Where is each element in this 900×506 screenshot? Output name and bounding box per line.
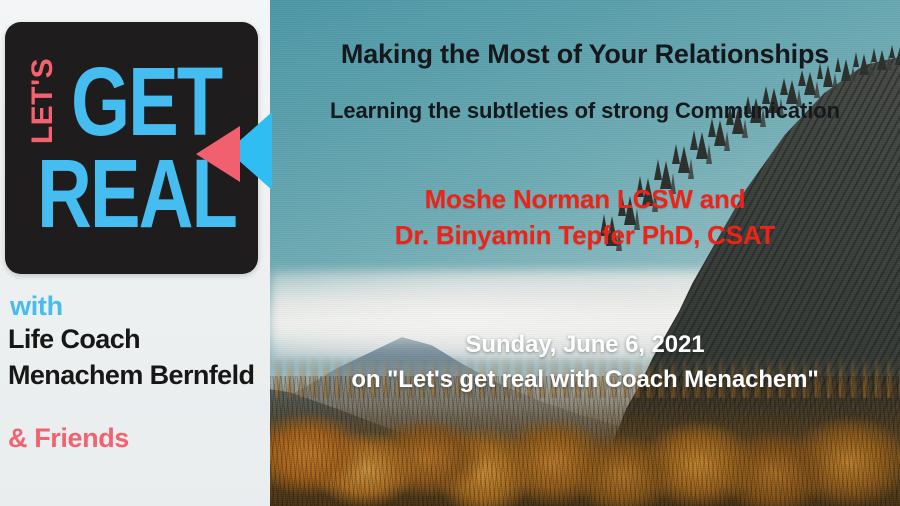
- speaker-name-1: Moshe Norman LCSW and: [276, 182, 894, 218]
- with-label: with: [10, 291, 63, 322]
- brand-panel: LET'S GET REAL with Life Coach Menachem …: [0, 0, 270, 506]
- event-date: Sunday, June 6, 2021: [272, 328, 898, 363]
- friends-label: & Friends: [8, 423, 129, 454]
- event-details: Sunday, June 6, 2021 on "Let's get real …: [272, 328, 898, 398]
- subtitle: Learning the subtleties of strong Commun…: [298, 96, 872, 125]
- flyer-copy: Making the Most of Your Relationships Le…: [270, 0, 900, 506]
- speaker-names: Moshe Norman LCSW and Dr. Binyamin Tepfe…: [276, 182, 894, 254]
- event-flyer: Making the Most of Your Relationships Le…: [0, 0, 900, 506]
- page-title: Making the Most of Your Relationships: [278, 40, 892, 70]
- logo-get-text: GET: [71, 58, 221, 147]
- host-name: Life Coach Menachem Bernfeld: [8, 322, 266, 393]
- speaker-name-2: Dr. Binyamin Tepfer PhD, CSAT: [276, 218, 894, 254]
- logo-real-text: REAL: [37, 150, 236, 239]
- show-name: on "Let's get real with Coach Menachem": [272, 363, 898, 398]
